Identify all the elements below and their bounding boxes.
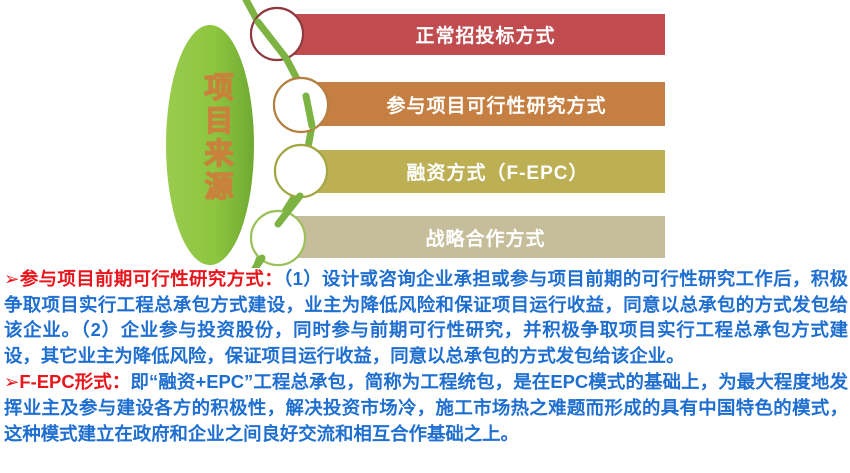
project-source-diagram: 项目来源 正常招投标方式 参与项目可行性研究方式 融资方式（F-EPC） 战略合… bbox=[0, 0, 850, 268]
stage-bar-1[interactable]: 正常招投标方式 bbox=[278, 14, 665, 55]
paragraph-2-lead: F-EPC形式： bbox=[19, 371, 130, 392]
stage-bar-3[interactable]: 融资方式（F-EPC） bbox=[302, 150, 665, 193]
stage-bar-2-label: 参与项目可行性研究方式 bbox=[386, 91, 606, 118]
bullet-arrow-icon-2: ➢ bbox=[4, 371, 19, 392]
body-text: ➢参与项目前期可行性研究方式：（1）设计或咨询企业承担或参与项目前期的可行性研究… bbox=[4, 266, 848, 446]
bullet-arrow-icon-1: ➢ bbox=[4, 268, 19, 289]
paragraph-1: ➢参与项目前期可行性研究方式：（1）设计或咨询企业承担或参与项目前期的可行性研究… bbox=[4, 266, 848, 368]
paragraph-1-lead: 参与项目前期可行性研究方式： bbox=[19, 268, 283, 289]
stage-bar-3-label: 融资方式（F-EPC） bbox=[406, 158, 588, 185]
stage-bar-1-label: 正常招投标方式 bbox=[415, 21, 555, 48]
project-source-ellipse bbox=[166, 25, 254, 265]
stage-bar-4[interactable]: 战略合作方式 bbox=[278, 216, 665, 258]
stage-bar-4-label: 战略合作方式 bbox=[425, 224, 545, 251]
paragraph-2-rest: 即“融资+EPC”工程总承包，简称为工程统包，是在EPC模式的基础上，为最大程度… bbox=[4, 371, 848, 443]
slide-root: 项目来源 正常招投标方式 参与项目可行性研究方式 融资方式（F-EPC） 战略合… bbox=[0, 0, 850, 473]
paragraph-2: ➢F-EPC形式：即“融资+EPC”工程总承包，简称为工程统包，是在EPC模式的… bbox=[4, 369, 848, 446]
stage-bar-2[interactable]: 参与项目可行性研究方式 bbox=[300, 82, 665, 126]
